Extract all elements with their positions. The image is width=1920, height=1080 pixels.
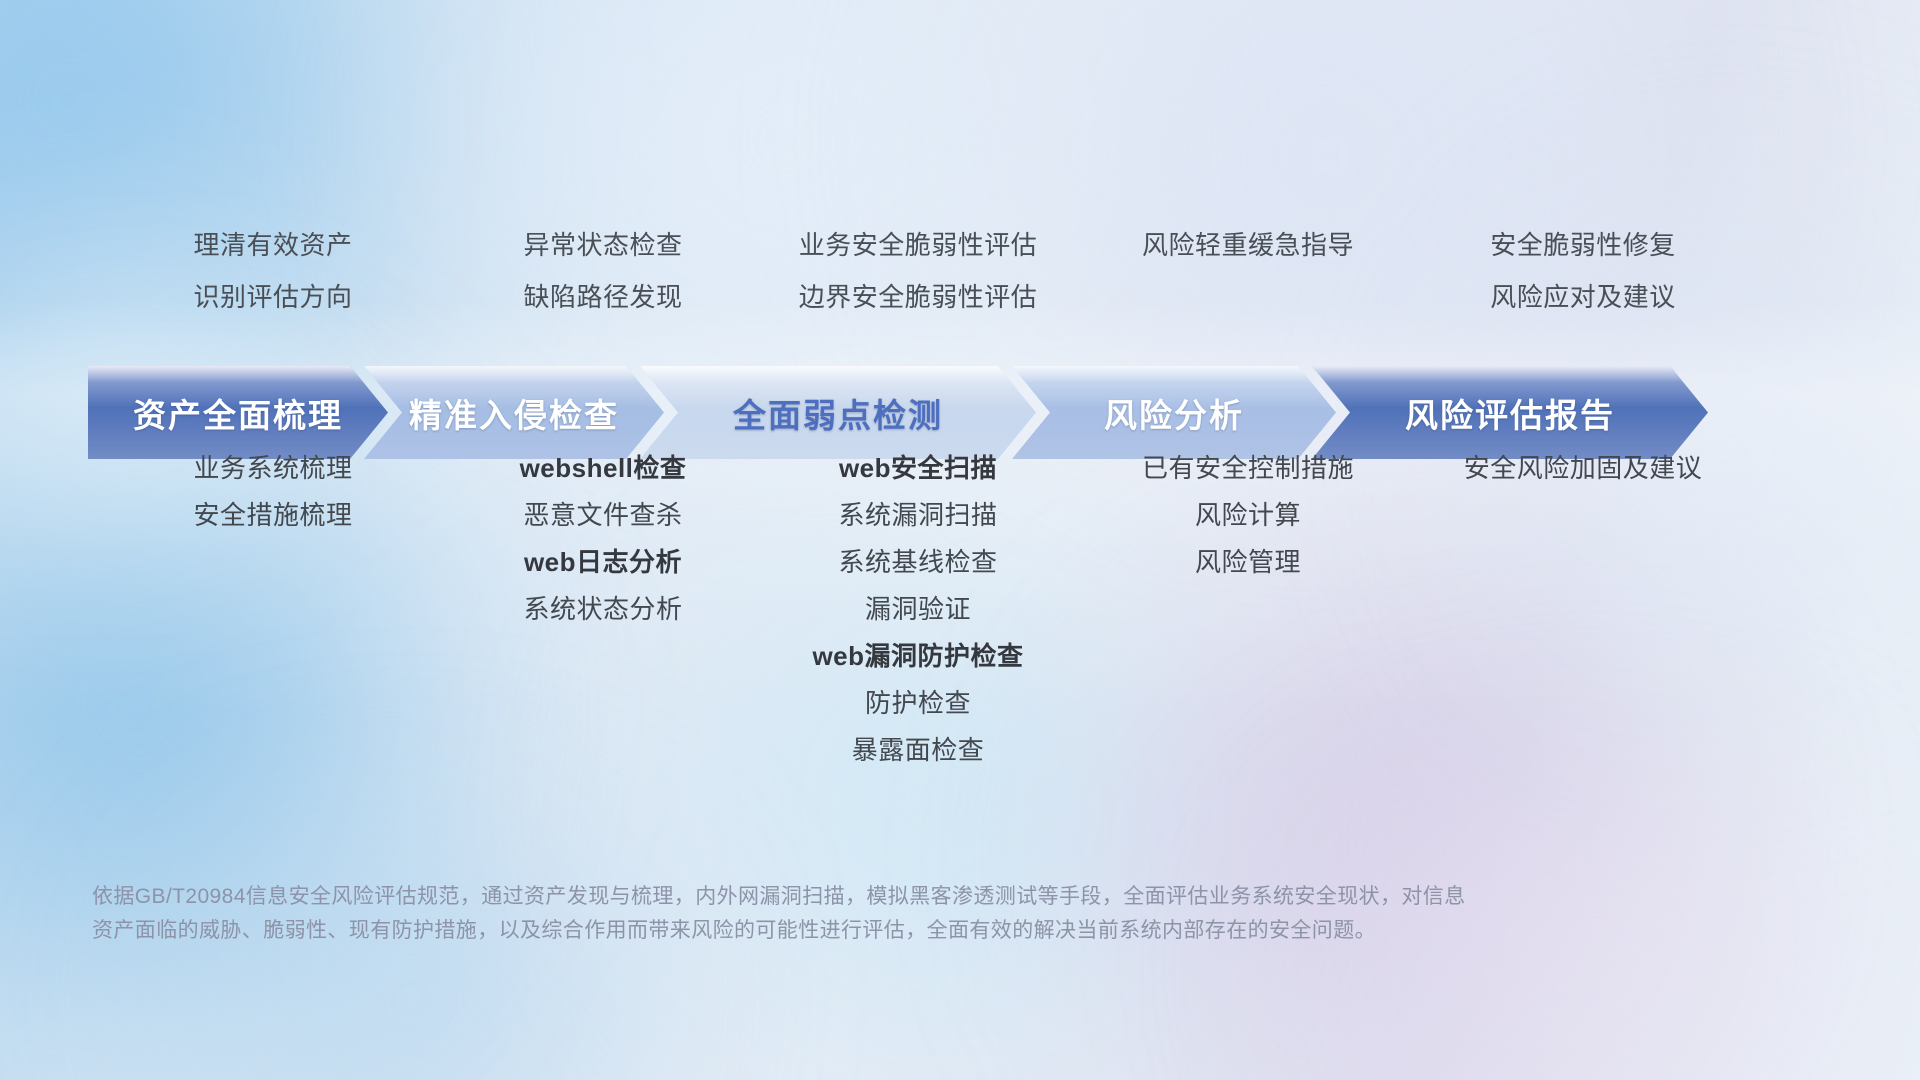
top-item: 异常状态检查: [458, 232, 748, 258]
stage-1-top-list: 理清有效资产 识别评估方向: [88, 232, 458, 310]
stage-5-bottom-list: 安全风险加固及建议: [1408, 455, 1758, 481]
stage-chevron-1[interactable]: 资产全面梳理: [88, 366, 388, 459]
detail-item: 风险计算: [1088, 502, 1408, 528]
stage-4-top-list: 风险轻重缓急指导: [1088, 232, 1408, 258]
stage-chevron-4[interactable]: 风险分析: [1012, 366, 1336, 459]
stage-3-top-list: 业务安全脆弱性评估 边界安全脆弱性评估: [748, 232, 1088, 310]
top-item: 安全脆弱性修复: [1408, 232, 1758, 258]
stage-1-bottom-list: 业务系统梳理 安全措施梳理: [88, 455, 458, 528]
top-item: 边界安全脆弱性评估: [748, 284, 1088, 310]
detail-item: 系统基线检查: [748, 549, 1088, 575]
stage-2-bottom-column: webshell检查 恶意文件查杀 web日志分析 系统状态分析: [458, 455, 748, 622]
top-item: 识别评估方向: [88, 284, 458, 310]
stage-5-top-column: 安全脆弱性修复 风险应对及建议: [1408, 232, 1758, 310]
stage-1-bottom-column: 业务系统梳理 安全措施梳理: [88, 455, 458, 528]
detail-item: 系统漏洞扫描: [748, 502, 1088, 528]
top-item: 风险轻重缓急指导: [1088, 232, 1408, 258]
process-diagram: 理清有效资产 识别评估方向 异常状态检查 缺陷路径发现 业务安全脆弱性评估 边界…: [0, 0, 1920, 1080]
top-item: 理清有效资产: [88, 232, 458, 258]
top-item: 风险应对及建议: [1408, 284, 1758, 310]
top-annotations-row: 理清有效资产 识别评估方向 异常状态检查 缺陷路径发现 业务安全脆弱性评估 边界…: [0, 232, 1920, 310]
detail-item: web漏洞防护检查: [748, 643, 1088, 669]
detail-item: 恶意文件查杀: [458, 502, 748, 528]
stage-5-bottom-column: 安全风险加固及建议: [1408, 455, 1758, 481]
top-item: 缺陷路径发现: [458, 284, 748, 310]
bottom-details-row: 业务系统梳理 安全措施梳理 webshell检查 恶意文件查杀 web日志分析 …: [0, 455, 1920, 763]
stage-3-bottom-column: web安全扫描 系统漏洞扫描 系统基线检查 漏洞验证 web漏洞防护检查 防护检…: [748, 455, 1088, 763]
detail-item: webshell检查: [458, 455, 748, 481]
detail-item: 业务系统梳理: [88, 455, 458, 481]
stage-5-top-list: 安全脆弱性修复 风险应对及建议: [1408, 232, 1758, 310]
stage-3-top-column: 业务安全脆弱性评估 边界安全脆弱性评估: [748, 232, 1088, 310]
stage-chevron-2[interactable]: 精准入侵检查: [364, 366, 664, 459]
stage-2-top-list: 异常状态检查 缺陷路径发现: [458, 232, 748, 310]
stage-1-top-column: 理清有效资产 识别评估方向: [88, 232, 458, 310]
detail-item: 风险管理: [1088, 549, 1408, 575]
footer-line-1: 依据GB/T20984信息安全风险评估规范，通过资产发现与梳理，内外网漏洞扫描，…: [92, 880, 1612, 914]
stage-3-bottom-list: web安全扫描 系统漏洞扫描 系统基线检查 漏洞验证 web漏洞防护检查 防护检…: [748, 455, 1088, 763]
detail-item: 安全风险加固及建议: [1408, 455, 1758, 481]
stage-chevron-label: 风险评估报告: [1405, 389, 1615, 437]
stage-chevron-label: 精准入侵检查: [409, 389, 619, 437]
stage-chevron-3[interactable]: 全面弱点检测: [640, 366, 1036, 459]
stage-chevron-label: 风险分析: [1104, 389, 1244, 437]
footer-line-2: 资产面临的威胁、脆弱性、现有防护措施，以及综合作用而带来风险的可能性进行评估，全…: [92, 914, 1612, 948]
footer-description: 依据GB/T20984信息安全风险评估规范，通过资产发现与梳理，内外网漏洞扫描，…: [92, 880, 1612, 948]
detail-item: 安全措施梳理: [88, 502, 458, 528]
stage-4-bottom-column: 已有安全控制措施 风险计算 风险管理: [1088, 455, 1408, 575]
detail-item: 暴露面检查: [748, 737, 1088, 763]
detail-item: 漏洞验证: [748, 596, 1088, 622]
stage-chevron-label: 全面弱点检测: [733, 389, 943, 437]
detail-item: web安全扫描: [748, 455, 1088, 481]
detail-item: web日志分析: [458, 549, 748, 575]
detail-item: 系统状态分析: [458, 596, 748, 622]
stage-4-bottom-list: 已有安全控制措施 风险计算 风险管理: [1088, 455, 1408, 575]
stage-chevron-label: 资产全面梳理: [133, 389, 343, 437]
stage-2-top-column: 异常状态检查 缺陷路径发现: [458, 232, 748, 310]
detail-item: 已有安全控制措施: [1088, 455, 1408, 481]
stage-2-bottom-list: webshell检查 恶意文件查杀 web日志分析 系统状态分析: [458, 455, 748, 622]
stage-chevron-5[interactable]: 风险评估报告: [1312, 366, 1708, 459]
stage-4-top-column: 风险轻重缓急指导: [1088, 232, 1408, 310]
detail-item: 防护检查: [748, 690, 1088, 716]
stage-chevron-band: 资产全面梳理 精准入侵检查 全面弱点检测 风险分析 风险评估报告: [88, 366, 1848, 459]
top-item: 业务安全脆弱性评估: [748, 232, 1088, 258]
